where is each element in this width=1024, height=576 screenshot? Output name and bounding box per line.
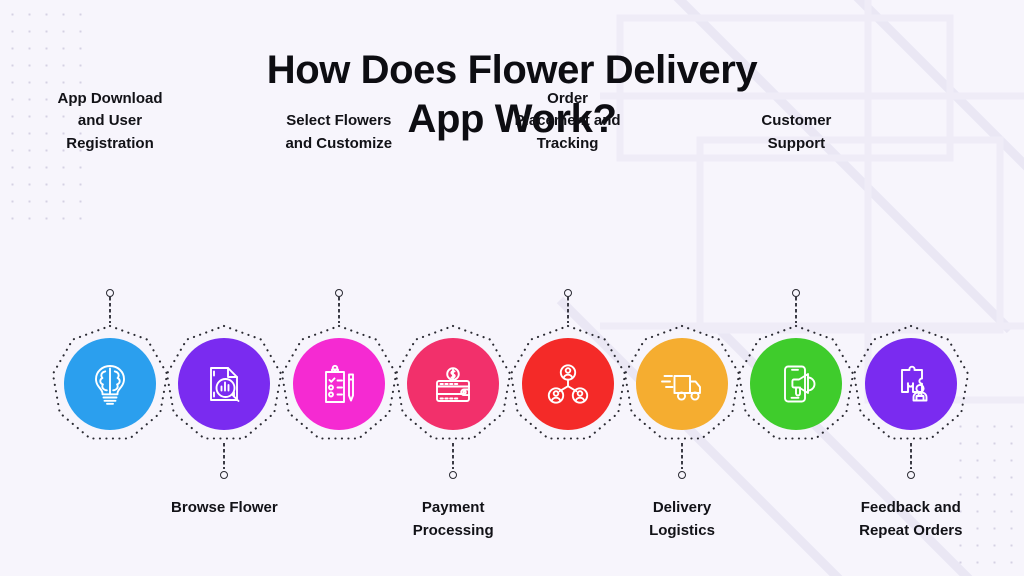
step-label: Select Flowersand Customize [232, 110, 446, 156]
step-label-line: Payment [422, 499, 485, 516]
step-connector [449, 443, 457, 479]
step-connector [106, 289, 114, 325]
step-label-line: Support [768, 135, 826, 152]
step-label: App Downloadand UserRegistration [3, 88, 217, 156]
step-label: OrderPlacement andTracking [461, 88, 675, 156]
clipboard-checklist-pen-icon [315, 360, 363, 408]
step-label-line: Browse Flower [171, 499, 278, 516]
connector-dotted-line [910, 443, 912, 469]
connector-dotted-line [795, 297, 797, 323]
step-connector [220, 443, 228, 479]
step-label: Browse Flower [117, 497, 331, 520]
step-label-line: Customer [761, 112, 831, 129]
connector-ring-icon [678, 471, 686, 479]
connector-dotted-line [567, 297, 569, 323]
step-label: CustomerSupport [689, 110, 903, 156]
wallet-coin-icon [429, 360, 477, 408]
step-label-line: Order [547, 90, 588, 107]
step-label-line: Feedback and [861, 499, 961, 516]
connector-dotted-line [109, 297, 111, 323]
phone-megaphone-icon [772, 360, 820, 408]
lightbulb-brain-icon [86, 360, 134, 408]
step-icon-bubble[interactable] [636, 338, 728, 430]
user-network-icon [544, 360, 592, 408]
step-icon-bubble[interactable] [64, 338, 156, 430]
step-label-line: and User [78, 112, 142, 129]
step-label-line: Registration [66, 135, 154, 152]
step-connector [907, 443, 915, 479]
step-icon-bubble[interactable] [522, 338, 614, 430]
step-label-line: Processing [413, 522, 494, 539]
connector-dotted-line [223, 443, 225, 469]
step-connector [564, 289, 572, 325]
puzzle-person-icon [887, 360, 935, 408]
connector-ring-icon [449, 471, 457, 479]
step-label-line: App Download [58, 90, 163, 107]
process-steps: App Downloadand UserRegistrationBrowse F… [0, 0, 1024, 576]
step-label-line: Logistics [649, 522, 715, 539]
connector-ring-icon [564, 289, 572, 297]
connector-ring-icon [907, 471, 915, 479]
step-label-line: Delivery [653, 499, 711, 516]
connector-ring-icon [335, 289, 343, 297]
step-label: PaymentProcessing [346, 497, 560, 543]
connector-dotted-line [338, 297, 340, 323]
document-search-icon [200, 360, 248, 408]
connector-dotted-line [452, 443, 454, 469]
step-label-line: Select Flowers [286, 112, 391, 129]
step-connector [678, 443, 686, 479]
step-icon-bubble[interactable] [865, 338, 957, 430]
step-icon-bubble[interactable] [178, 338, 270, 430]
step-label-line: and Customize [285, 135, 392, 152]
step-connector [792, 289, 800, 325]
step-icon-bubble[interactable] [293, 338, 385, 430]
step-label-line: Tracking [537, 135, 599, 152]
step-connector [335, 289, 343, 325]
connector-dotted-line [681, 443, 683, 469]
connector-ring-icon [792, 289, 800, 297]
step-icon-bubble[interactable] [750, 338, 842, 430]
step-label: Feedback andRepeat Orders [804, 497, 1018, 543]
delivery-truck-icon [658, 360, 706, 408]
connector-ring-icon [106, 289, 114, 297]
step-label: DeliveryLogistics [575, 497, 789, 543]
step-label-line: Placement and [515, 112, 621, 129]
step-label-line: Repeat Orders [859, 522, 962, 539]
step-icon-bubble[interactable] [407, 338, 499, 430]
connector-ring-icon [220, 471, 228, 479]
